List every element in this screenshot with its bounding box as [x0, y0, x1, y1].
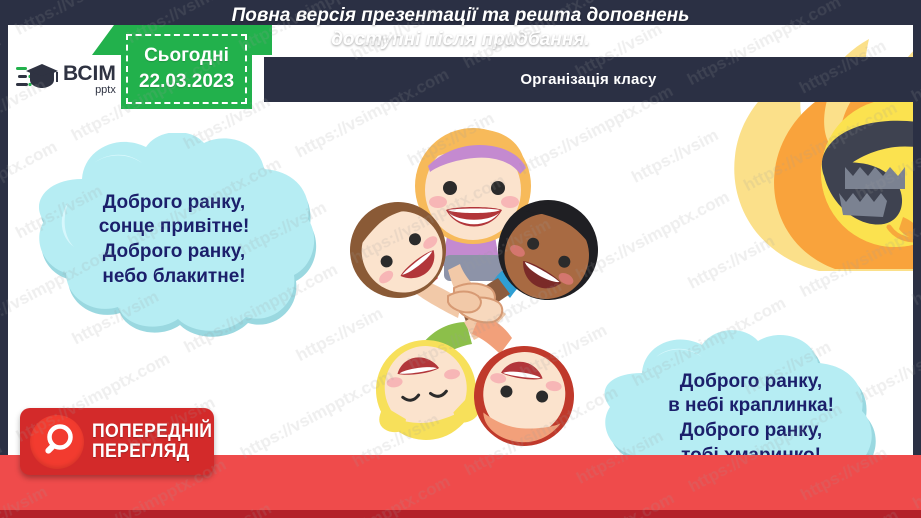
magnifier-icon	[30, 415, 84, 469]
preview-badge-label: ПОПЕРЕДНІЙ ПЕРЕГЛЯД	[92, 422, 212, 462]
brand-logo[interactable]: ВСІМ pptx	[16, 55, 126, 103]
purchase-banner-text: Повна версія презентації та решта доповн…	[0, 4, 921, 53]
graduation-cap-icon	[16, 62, 58, 96]
today-date: 22.03.2023	[139, 69, 234, 95]
slide-header-bar: Організація класу	[264, 57, 913, 102]
speech-cloud-left: Доброго ранку, сонце привітне! Доброго р…	[24, 133, 324, 343]
cloud-shape-left	[24, 133, 324, 343]
preview-badge[interactable]: ПОПЕРЕДНІЙ ПЕРЕГЛЯД	[20, 408, 214, 475]
brand-logo-name: ВСІМ	[63, 63, 116, 84]
brand-logo-text: ВСІМ pptx	[63, 63, 116, 96]
page-title: Організація класу	[520, 71, 656, 88]
purchase-banner-line-2: доступні після придбання.	[0, 28, 921, 52]
brand-logo-sub: pptx	[63, 85, 116, 96]
preview-badge-line-1: ПОПЕРЕДНІЙ	[92, 422, 212, 442]
purchase-banner-line-1: Повна версія презентації та решта доповн…	[0, 4, 921, 28]
slide-root: Доброго ранку, сонце привітне! Доброго р…	[0, 0, 921, 518]
banner-bottom-strip	[0, 510, 921, 518]
preview-badge-line-2: ПЕРЕГЛЯД	[92, 442, 212, 462]
